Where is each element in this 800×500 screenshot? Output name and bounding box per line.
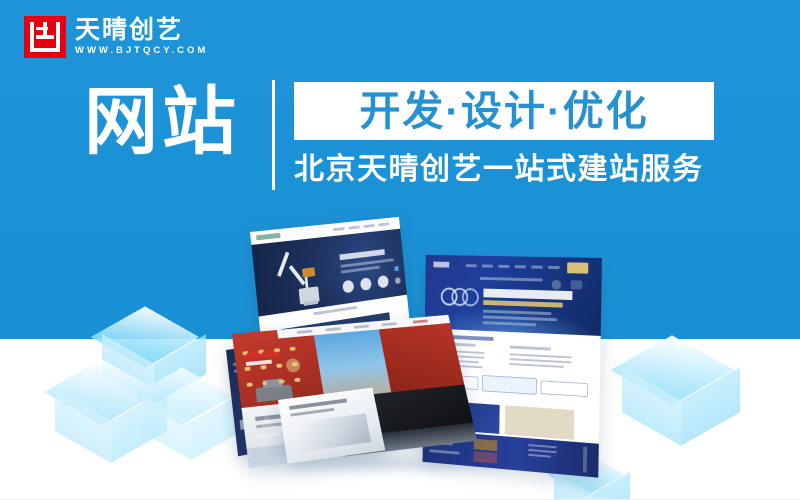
logo-website-url: WWW.BJTQCY.COM: [75, 45, 208, 57]
logo-mark-icon: [24, 16, 66, 58]
cube-left-right: [140, 366, 244, 470]
cube-right-large: [618, 334, 742, 458]
promo-banner: 天晴创艺 WWW.BJTQCY.COM 网站 开发·设计·优化 北京天晴创艺一站…: [0, 0, 800, 500]
headline-services-text: 开发·设计·优化: [359, 89, 648, 133]
mockup-c-right-door: [379, 323, 465, 392]
mockup-c-center-photo: [314, 329, 391, 399]
headline-keyword: 网站: [84, 78, 240, 166]
brand-logo[interactable]: 天晴创艺 WWW.BJTQCY.COM: [24, 16, 208, 58]
headline-subtitle: 北京天晴创艺一站式建站服务: [294, 152, 704, 188]
website-mockup-stage: [232, 222, 600, 487]
logo-text: 天晴创艺 WWW.BJTQCY.COM: [75, 17, 208, 57]
mockup-b-hero: [425, 255, 602, 336]
mockup-white-paper-site: [278, 388, 385, 464]
headline-services-box: 开发·设计·优化: [294, 82, 714, 140]
logo-company-name: 天晴创艺: [75, 17, 208, 43]
headline-divider: [272, 80, 275, 190]
